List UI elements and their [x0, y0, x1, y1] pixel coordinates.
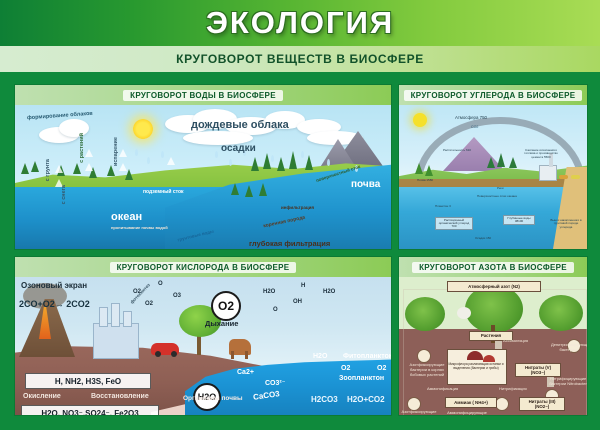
- raindrop-icon: [301, 151, 304, 158]
- label-surface-ocean: Поверхностные слои океана: [477, 195, 517, 198]
- reduced-compounds-label: H, NH2, H3S, FeO: [55, 377, 121, 386]
- ecology-poster: ЭКОЛОГИЯ КРУГОВОРОТ ВЕЩЕСТВ В БИОСФЕРЕ К…: [0, 0, 600, 430]
- panel-nitrogen-title: КРУГОВОРОТ АЗОТА В БИОСФЕРЕ: [412, 262, 574, 273]
- tree-icon: [497, 153, 505, 167]
- raindrop-icon: [215, 151, 218, 158]
- label-phytoplankton: Фитопланктон: [343, 353, 391, 360]
- nitrates-iii-box: Нитраты (III) (NO2−): [519, 397, 565, 411]
- raindrop-icon: [161, 151, 164, 158]
- panel-water-cycle[interactable]: КРУГОВОРОТ ВОДЫ В БИОСФЕРЕ: [14, 84, 392, 250]
- label-from-ground: с грунта: [45, 159, 51, 181]
- vapor-arrow-icon: [55, 165, 63, 173]
- tree-icon: [263, 153, 271, 169]
- label-atmosphere: Атмосфера 750: [455, 115, 487, 120]
- tree-icon: [487, 157, 495, 168]
- smokestack-icon: [111, 303, 120, 327]
- panel-water-header: КРУГОВОРОТ ВОДЫ В БИОСФЕРЕ: [15, 85, 391, 105]
- plants-label: Растения: [481, 333, 501, 338]
- label-precipitation: осадки: [221, 143, 256, 154]
- label-soil-soaking: пропитывание почвы водой: [111, 225, 168, 230]
- raindrop-icon: [229, 159, 232, 166]
- label-ozone-screen: Озоновый экран: [21, 281, 87, 290]
- tree-icon: [251, 157, 259, 171]
- panel-oxygen-cycle[interactable]: КРУГОВОРОТ КИСЛОРОДА В БИОСФЕРЕ O2: [14, 256, 392, 416]
- vapor-arrow-icon: [119, 163, 127, 171]
- label-o2-sea-left: O2: [341, 365, 350, 372]
- oxidized-compounds-label: H2O, NO3⁻,SO24⁻, Fe2O3: [41, 409, 138, 416]
- label-atm-h2o-right: H2O: [323, 289, 335, 295]
- label-infiltration: инфильтрация: [281, 205, 314, 210]
- tree-icon: [231, 183, 239, 195]
- panel-carbon-title: КРУГОВОРОТ УГЛЕРОДА В БИОСФЕРЕ: [404, 90, 583, 101]
- label-atm-oh: OH: [293, 299, 302, 305]
- horse-leg: [245, 351, 248, 359]
- panel-carbon-illustration: Атмосфера 750 CO2 Растительность 610 Поч…: [399, 105, 587, 249]
- panel-nitrogen-header: КРУГОВОРОТ АЗОТА В БИОСФЕРЕ: [399, 257, 587, 277]
- raindrop-icon: [327, 159, 330, 166]
- factory-icon: [93, 323, 139, 359]
- label-sediments: Осадки 150: [475, 237, 491, 240]
- ammonia-box: Аммиак ( NH4+): [445, 397, 497, 408]
- label-from-plants: с растений: [79, 133, 85, 163]
- label-nitrogen-fixing-free: Азотфиксирующие бактерии почвы: [401, 410, 437, 415]
- page-subtitle: КРУГОВОРОТ ВЕЩЕСТВ В БИОСФЕРЕ: [176, 52, 424, 66]
- mushroom-icon: [467, 351, 483, 360]
- label-carbonic: H2CO3: [311, 395, 338, 404]
- vapor-arrow-icon: [119, 149, 127, 157]
- mushroom-icon: [483, 355, 495, 362]
- label-soil-accumulation: Вынос накопленного в грунтовой породе уг…: [549, 219, 583, 229]
- poster-title-band: ЭКОЛОГИЯ: [0, 0, 600, 46]
- label-carbonic-eq: H2O+CO2: [347, 395, 385, 404]
- vehicle-shape: [571, 175, 580, 179]
- smokestack-icon: [99, 307, 108, 327]
- label-denitrifying: Денитрифицирующие бактерии: [551, 343, 585, 353]
- car-wheel: [171, 351, 177, 357]
- tree-icon: [509, 157, 517, 168]
- panel-nitrogen-illustration: Микрофлора разлагающая останки и выделен…: [399, 277, 587, 415]
- label-deep-ocean: Глубинные воды 38100: [503, 215, 535, 225]
- vapor-arrow-icon: [85, 149, 93, 157]
- vapor-arrow-icon: [167, 157, 175, 165]
- label-rivers: Реки: [497, 187, 504, 190]
- tree-icon: [245, 185, 253, 197]
- raindrop-icon: [271, 155, 274, 162]
- label-soil-carbon: Почва 1580: [417, 179, 433, 182]
- bacteria-icon: [417, 349, 431, 363]
- ammonia-label: Аммиак ( NH4+): [454, 400, 488, 405]
- label-atm-h2o-left: H2O: [263, 289, 275, 295]
- smokestack-icon: [123, 311, 132, 327]
- label-oxidation: Окисление: [23, 393, 61, 400]
- label-reduction: Восстановление: [91, 393, 149, 400]
- bacteria-icon: [495, 397, 509, 411]
- label-plankton: Планктон 3: [435, 205, 451, 208]
- label-o2-sea-right: O2: [377, 365, 386, 372]
- o2-node: O2: [211, 291, 241, 321]
- label-respiration: Дыхание: [205, 319, 238, 328]
- tree-icon: [107, 165, 115, 176]
- label-nitrification: Нитрификация: [499, 387, 527, 392]
- poster-subtitle-band: КРУГОВОРОТ ВЕЩЕСТВ В БИОСФЕРЕ: [0, 46, 600, 72]
- label-atm-o3: O3: [173, 293, 181, 299]
- page-title: ЭКОЛОГИЯ: [206, 5, 394, 41]
- label-ammonification: Аммонификация: [427, 387, 458, 392]
- sun-icon: [133, 119, 153, 139]
- panel-oxygen-title: КРУГОВОРОТ КИСЛОРОДА В БИОСФЕРЕ: [110, 262, 297, 273]
- panel-oxygen-header: КРУГОВОРОТ КИСЛОРОДА В БИОСФЕРЕ: [15, 257, 391, 277]
- label-atm-o2b: O2: [145, 301, 153, 307]
- panel-nitrogen-cycle[interactable]: КРУГОВОРОТ АЗОТА В БИОСФЕРЕ: [398, 256, 588, 416]
- label-zooplankton: Зоопланктон: [339, 375, 384, 382]
- atmospheric-nitrogen-label: Атмосферный азот (N2): [468, 284, 520, 289]
- tree-icon: [277, 157, 285, 171]
- label-nitrifying: Нитрифицирующие бактерии Nitrobacter: [549, 377, 587, 387]
- label-soil: почва: [351, 179, 380, 190]
- car-wheel: [155, 351, 161, 357]
- factory-shape: [539, 165, 557, 181]
- label-dissolved-carbon: Растворённый органический углерод 700: [435, 217, 473, 230]
- tree-icon: [425, 165, 433, 176]
- raindrop-icon: [147, 157, 150, 164]
- raindrop-icon: [135, 149, 138, 156]
- vehicle-shape: [559, 175, 568, 179]
- tree-icon: [21, 163, 29, 174]
- tree-icon: [259, 183, 267, 196]
- label-ocean: океан: [111, 211, 142, 223]
- panel-water-illustration: формирование облаков дождевые облака оса…: [15, 105, 391, 249]
- label-fossil-fuels: Сжигание ископаемого топлива и производс…: [519, 149, 563, 159]
- label-evaporation: испарение: [113, 137, 119, 166]
- label-rain-clouds: дождевые облака: [191, 119, 289, 131]
- panel-carbon-header: КРУГОВОРОТ УГЛЕРОДА В БИОСФЕРЕ: [399, 85, 587, 105]
- panel-carbon-cycle[interactable]: КРУГОВОРОТ УГЛЕРОДА В БИОСФЕРЕ Атмосфера…: [398, 84, 588, 250]
- tree-icon: [73, 163, 81, 174]
- tree-icon: [31, 161, 39, 172]
- nitrates-v-box: Нитраты (V) (NO3−): [515, 363, 561, 377]
- label-underground-runoff: подземный сток: [143, 189, 184, 195]
- label-atm-o: O: [158, 281, 163, 287]
- sun-icon: [413, 113, 427, 127]
- oxidized-compounds-box: H2O, NO3⁻,SO24⁻, Fe2O3: [21, 405, 159, 415]
- tree-icon: [289, 151, 297, 169]
- panel-oxygen-illustration: O2 O O3 O2 O2 H2O H H2O OH O O2 Дыхание …: [15, 277, 391, 415]
- label-ca-ion: Ca2+: [237, 369, 254, 376]
- label-atm-h: H: [301, 283, 305, 289]
- label-from-snow: с снега: [61, 185, 67, 204]
- tree-icon: [415, 163, 423, 174]
- reduced-compounds-box: H, NH2, H3S, FeO: [25, 373, 151, 389]
- o2-node-label: O2: [218, 299, 234, 313]
- nitrates-v-label: Нитраты (V) (NO3−): [518, 365, 558, 375]
- label-nitrogen-fixing-root: Азотфиксирующие бактерии в корнях бобовы…: [403, 363, 451, 377]
- atmospheric-nitrogen-box: Атмосферный азот (N2): [447, 281, 541, 292]
- label-soil-organisms: Организмы почвы: [183, 395, 243, 403]
- panel-water-title: КРУГОВОРОТ ВОДЫ В БИОСФЕРЕ: [123, 90, 283, 101]
- label-co3-ion: CO3²⁻: [265, 379, 285, 387]
- horse-leg: [231, 351, 234, 359]
- vapor-arrow-icon: [85, 163, 93, 171]
- label-atm-o-single: O: [273, 307, 278, 313]
- label-h2o-sea: H2O: [313, 353, 327, 360]
- tree-icon: [305, 155, 313, 170]
- label-ozone-reaction: 2CO+O2→ 2CO2: [19, 299, 90, 309]
- label-atmosphere-formula: CO2: [471, 125, 478, 129]
- nitrates-iii-label: Нитраты (III) (NO2−): [522, 399, 562, 409]
- label-microflora: Микрофлора разлагающая останки и выделен…: [448, 363, 504, 371]
- label-vegetation: Растительность 610: [443, 149, 471, 152]
- label-ammonifying: Аммонифицирующие бактерии (Nitrosomonas): [439, 411, 495, 415]
- label-assimilation: Ассимиляция: [503, 339, 528, 344]
- label-deep-filtration: глубокая фильтрация: [249, 239, 330, 248]
